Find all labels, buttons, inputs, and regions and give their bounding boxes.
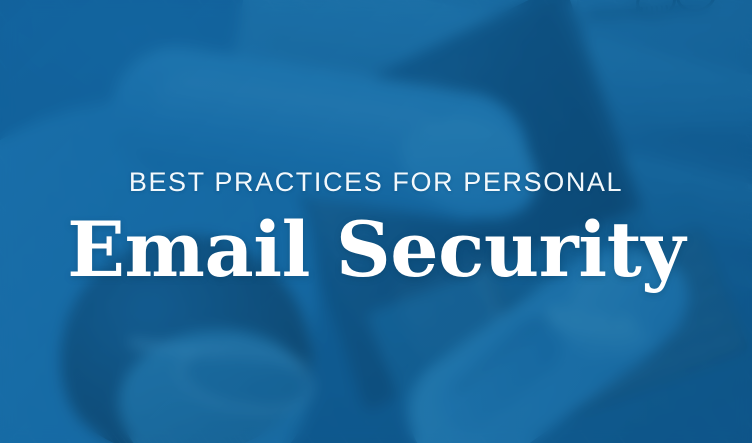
email-security-banner: BEST PRACTICES FOR PERSONAL Email Securi…: [0, 0, 752, 443]
banner-kicker: BEST PRACTICES FOR PERSONAL: [129, 169, 623, 196]
banner-headline: Email Security: [67, 212, 685, 288]
banner-text-block: BEST PRACTICES FOR PERSONAL Email Securi…: [0, 0, 752, 443]
